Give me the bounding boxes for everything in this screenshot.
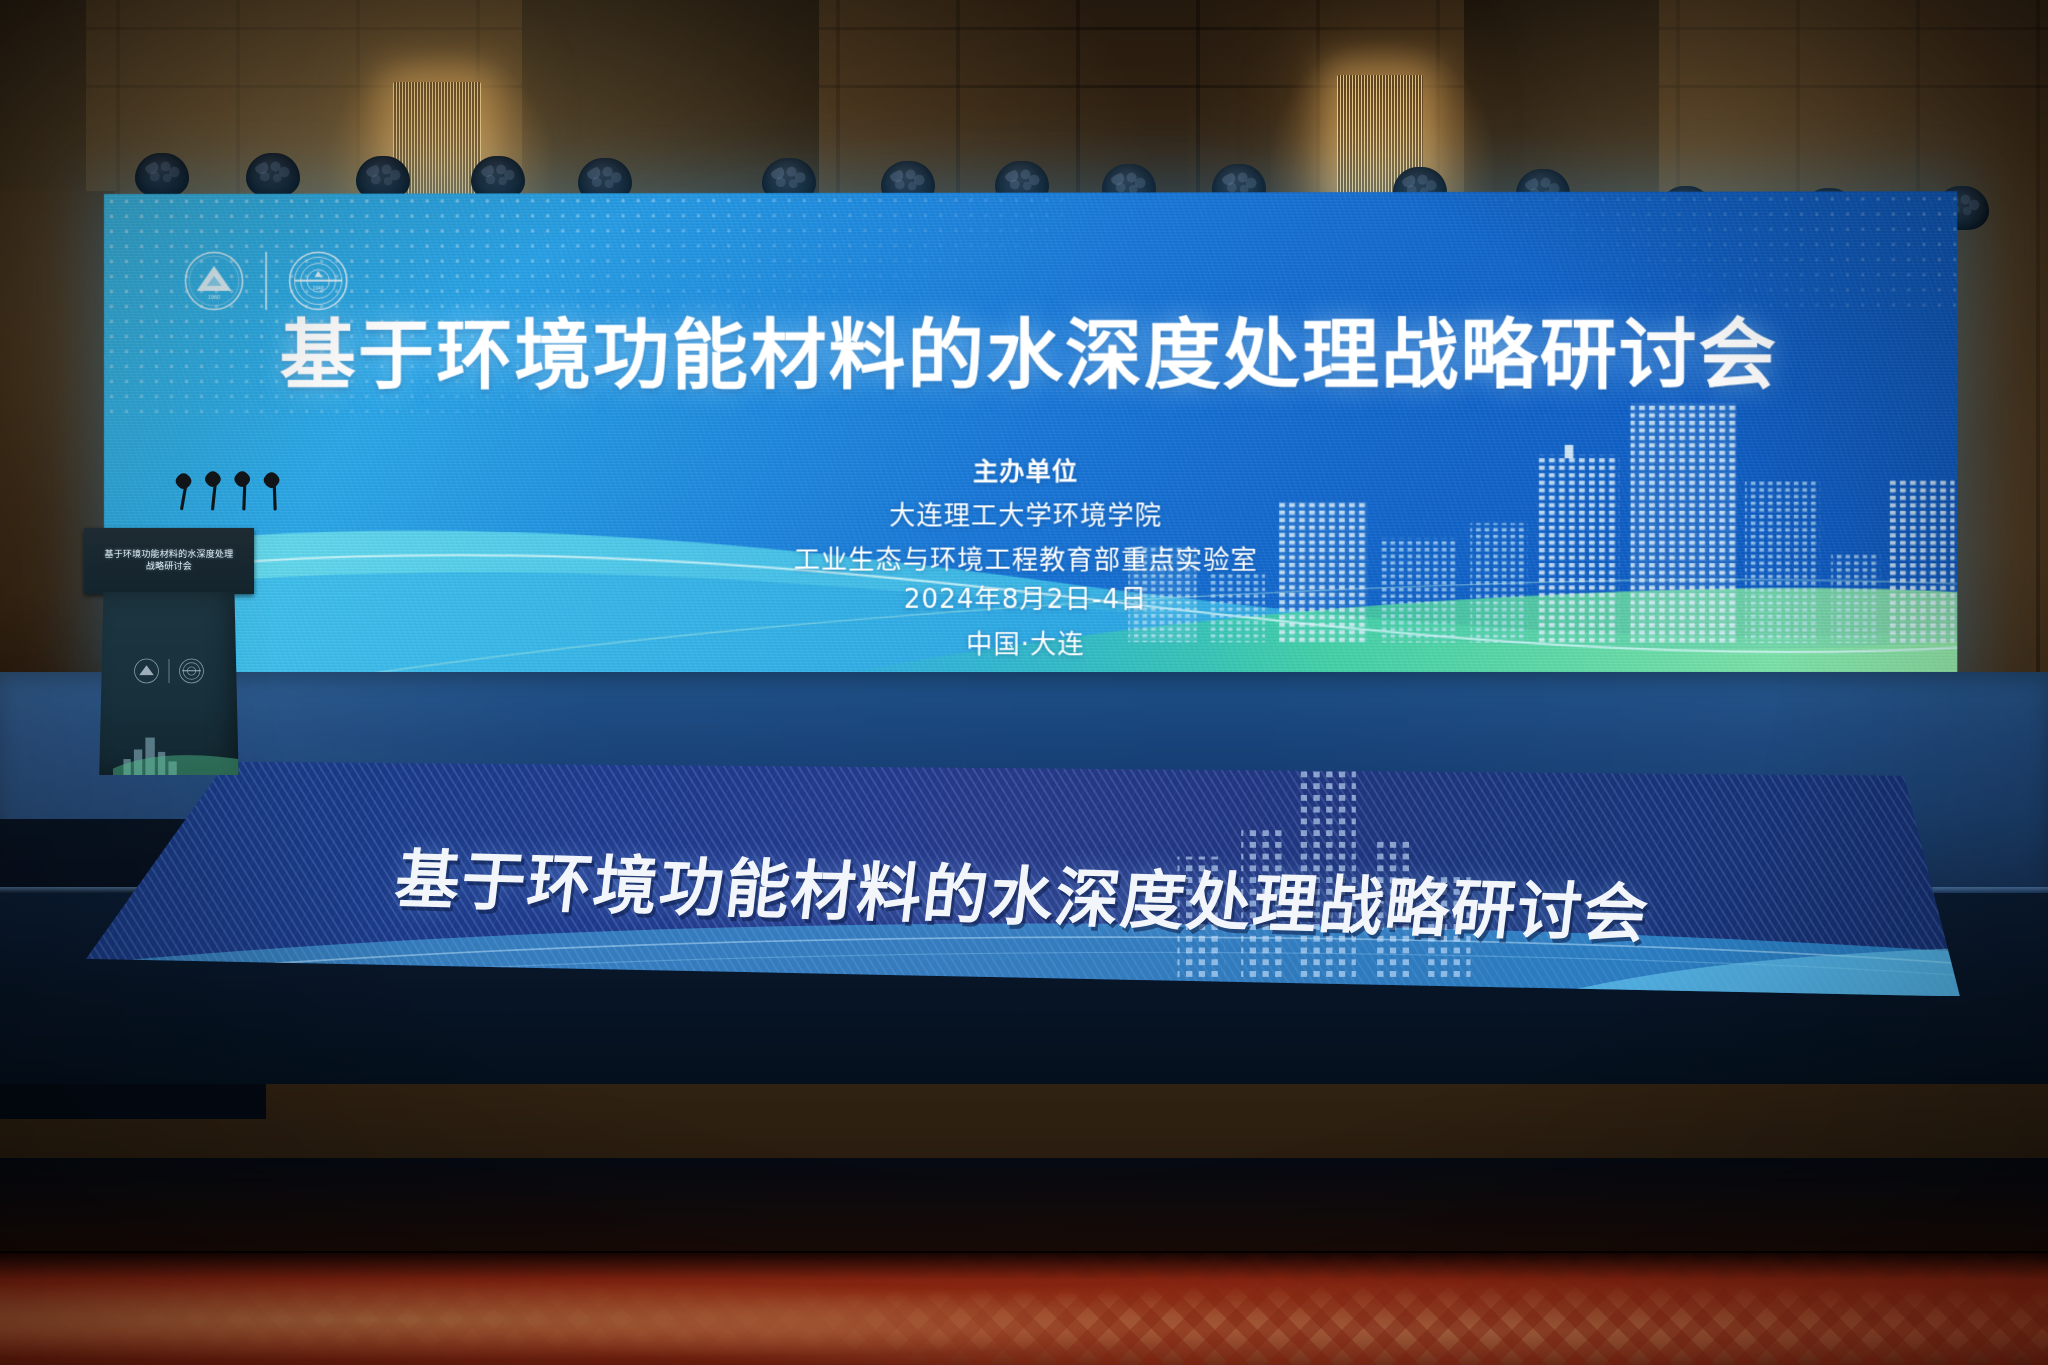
logo-divider (265, 252, 267, 310)
speaker-podium: 基于环境功能材料的水深度处理 战略研讨会 (84, 509, 254, 775)
carpet-shadow (0, 1251, 2048, 1280)
svg-text:1949: 1949 (313, 285, 324, 291)
stage-light-fixture (135, 153, 189, 197)
screen-logo-row: 1960 1949 (183, 249, 349, 311)
podium-name-sign: 基于环境功能材料的水深度处理 战略研讨会 (84, 528, 254, 595)
dut-university-seal-icon: 1949 (287, 249, 349, 311)
logo-divider (168, 659, 169, 683)
floor-led-strip: 基于环境功能材料的水深度处理战略研讨会 (86, 762, 1960, 997)
conference-stage-scene: 1960 1949 基于环境功能材料的水深度处理战略研讨会 主办单位 大连理工大… (0, 0, 2048, 1365)
microphone-group-icon (172, 456, 298, 525)
wall-seam (0, 85, 2048, 88)
floor-dark-band (0, 1158, 2048, 1254)
main-led-screen: 1960 1949 基于环境功能材料的水深度处理战略研讨会 主办单位 大连理工大… (104, 191, 1957, 682)
podium-sign-line-2: 战略研讨会 (105, 561, 234, 573)
event-date: 2024年8月2日-4日 (104, 578, 1957, 617)
date-location-block: 2024年8月2日-4日 中国·大连 (104, 578, 1957, 662)
event-location: 中国·大连 (104, 623, 1957, 662)
host-line-2: 工业生态与环境工程教育部重点实验室 (104, 538, 1957, 577)
dut-environment-seal-icon (133, 658, 159, 684)
svg-text:1960: 1960 (208, 295, 220, 301)
dut-university-seal-icon (178, 658, 204, 684)
podium-sign-line-1: 基于环境功能材料的水深度处理 (105, 549, 234, 561)
stage-light-fixture (246, 153, 300, 197)
podium-body (99, 592, 238, 776)
wall-seam (0, 27, 2048, 30)
host-label: 主办单位 (104, 451, 1957, 488)
host-organizer-block: 主办单位 大连理工大学环境学院 工业生态与环境工程教育部重点实验室 (104, 451, 1957, 577)
podium-logo-row (133, 658, 204, 684)
host-line-1: 大连理工大学环境学院 (104, 494, 1957, 532)
dut-environment-seal-icon: 1960 (183, 250, 245, 312)
podium-skyline-graphic (113, 728, 238, 776)
ballroom-carpet (0, 1253, 2048, 1365)
page-title: 基于环境功能材料的水深度处理战略研讨会 (104, 316, 1957, 393)
halftone-dot-pattern-right (1397, 191, 1957, 319)
